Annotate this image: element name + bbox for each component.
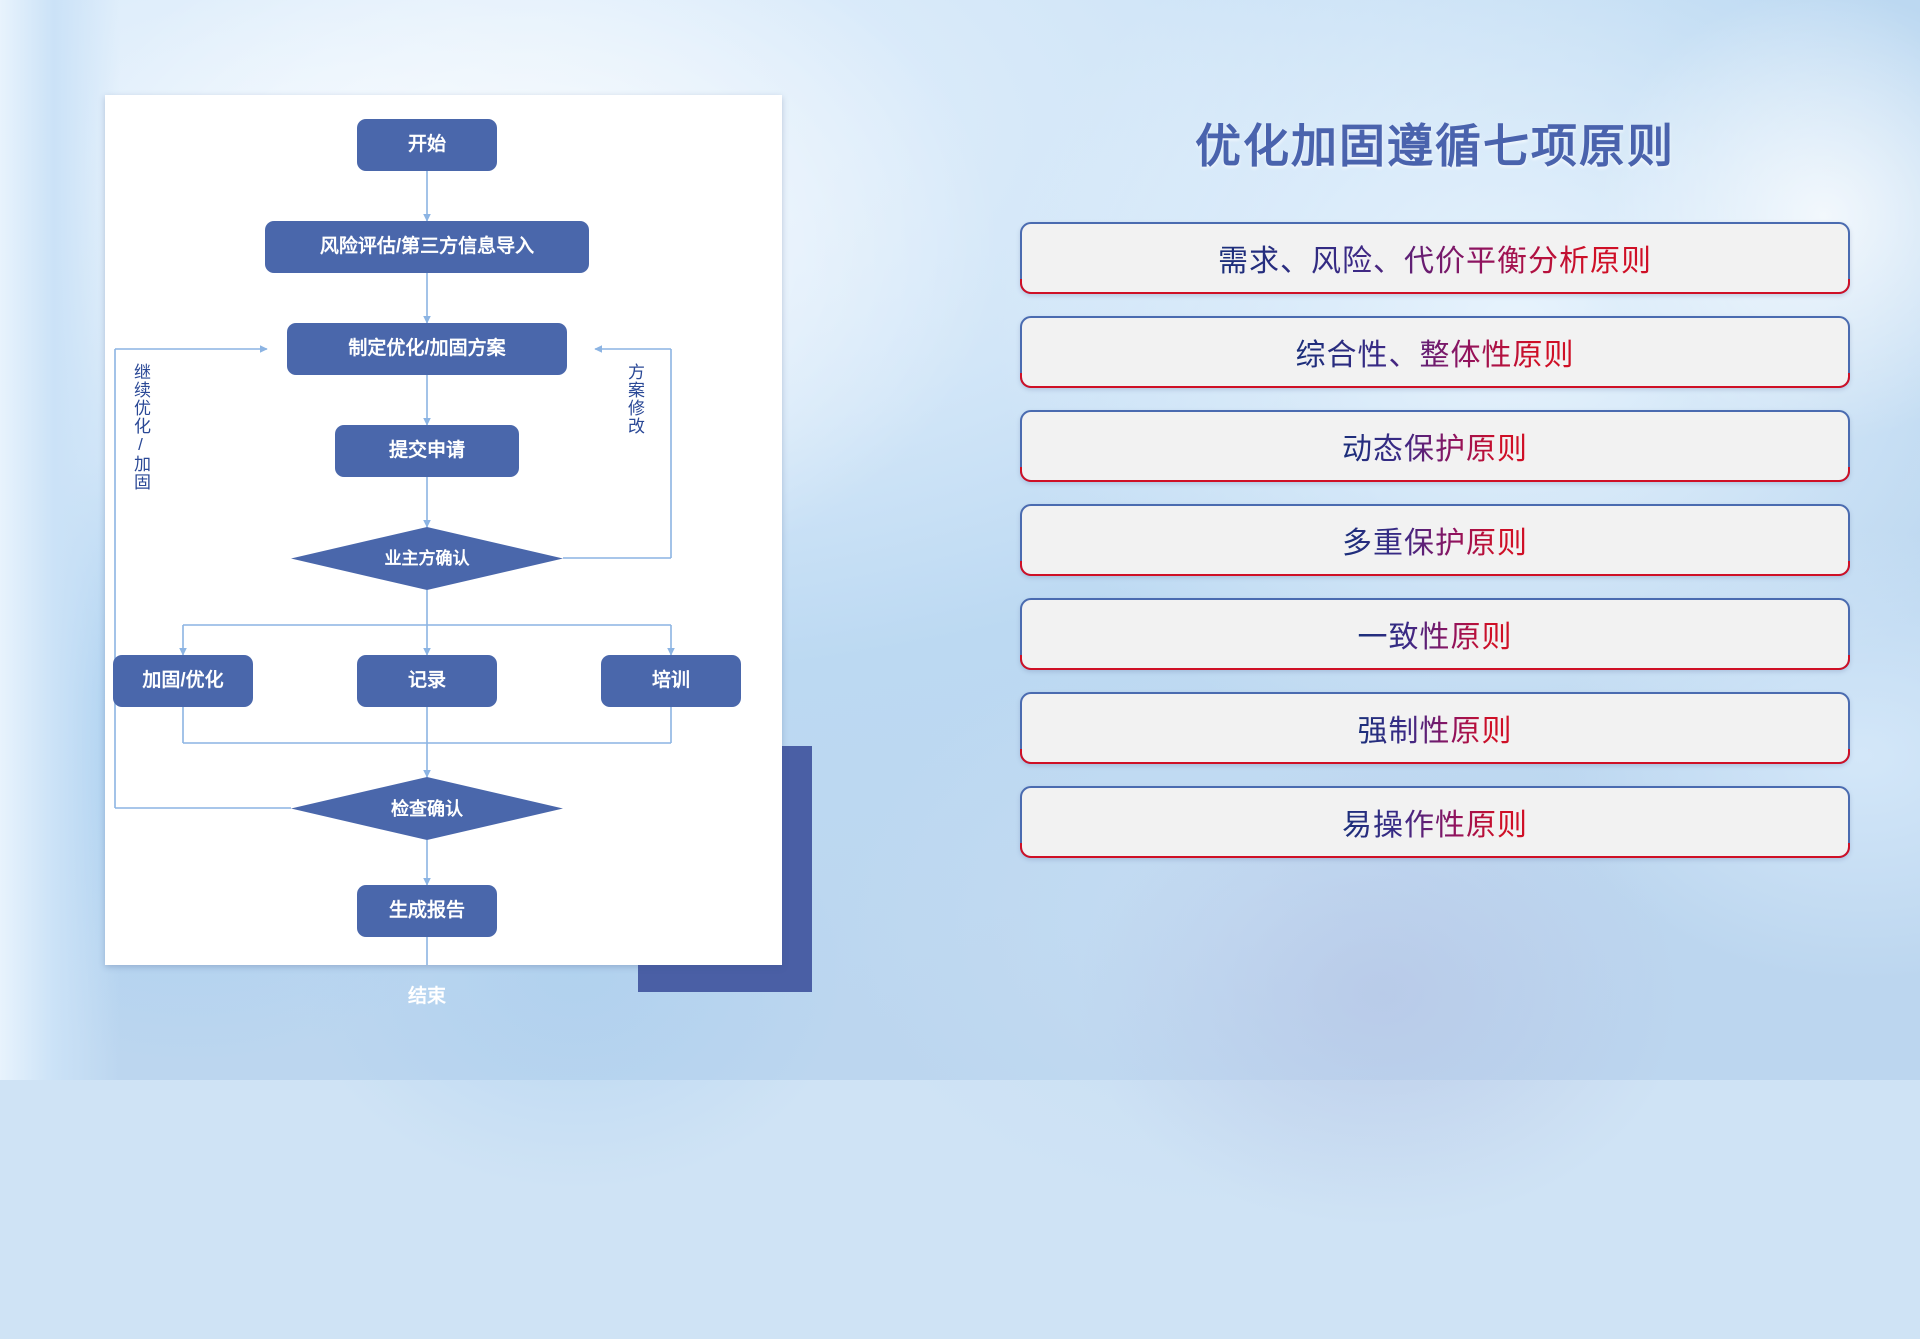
principle-label: 强制性原则 (1358, 706, 1513, 750)
flowchart-panel: 开始 风险评估/第三方信息导入 制定优化/加固方案 提交申请 业主方确认 加固/… (105, 95, 782, 965)
principle-card-2[interactable]: 综合性、整体性原则 (1020, 316, 1850, 388)
principle-label: 一致性原则 (1358, 612, 1513, 656)
principle-label: 易操作性原则 (1342, 800, 1528, 844)
principle-card-6[interactable]: 强制性原则 (1020, 692, 1850, 764)
principle-label: 综合性、整体性原则 (1296, 330, 1575, 374)
flow-edge-label-continue-optimize: 继续优化/加固 (131, 363, 150, 543)
principles-column: 优化加固遵循七项原则 需求、风险、代价平衡分析原则 综合性、整体性原则 动态保护… (1020, 80, 1850, 880)
principle-card-4[interactable]: 多重保护原则 (1020, 504, 1850, 576)
principle-label: 需求、风险、代价平衡分析原则 (1218, 236, 1652, 280)
principle-label: 多重保护原则 (1342, 518, 1528, 562)
page-title: 优化加固遵循七项原则 (1020, 110, 1850, 176)
principle-label: 动态保护原则 (1342, 424, 1528, 468)
principle-card-3[interactable]: 动态保护原则 (1020, 410, 1850, 482)
principle-card-7[interactable]: 易操作性原则 (1020, 786, 1850, 858)
principle-card-5[interactable]: 一致性原则 (1020, 598, 1850, 670)
flowchart-canvas (105, 95, 782, 965)
background-left-strip (0, 0, 120, 1080)
flow-edge-label-plan-revision: 方案修改 (625, 363, 644, 503)
principle-card-1[interactable]: 需求、风险、代价平衡分析原则 (1020, 222, 1850, 294)
